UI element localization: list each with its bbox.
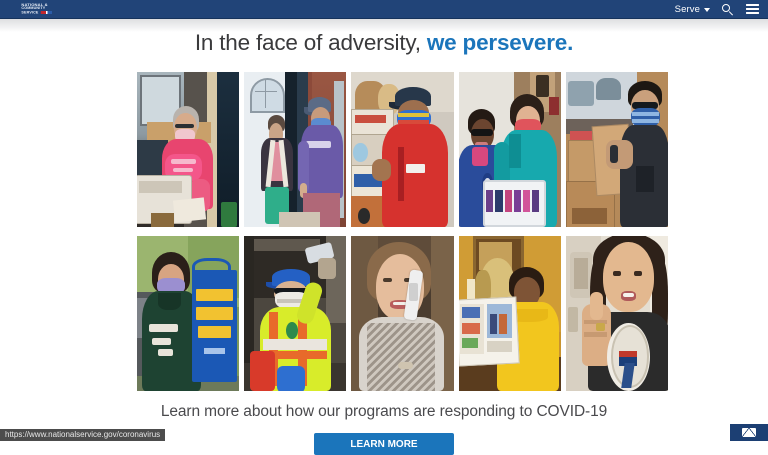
flag-icon bbox=[41, 11, 52, 14]
hamburger-menu-icon bbox=[746, 4, 759, 13]
photo-gallery bbox=[137, 72, 668, 391]
search-button[interactable] bbox=[719, 0, 735, 19]
gallery-photo[interactable] bbox=[137, 72, 239, 227]
gallery-photo[interactable] bbox=[566, 236, 668, 391]
email-subscribe-button[interactable] bbox=[730, 424, 768, 441]
gallery-photo[interactable] bbox=[244, 72, 346, 227]
envelope-icon bbox=[742, 428, 756, 437]
gallery-photo[interactable] bbox=[566, 72, 668, 227]
gallery-photo[interactable] bbox=[137, 236, 239, 391]
headline-accent: we persevere. bbox=[427, 30, 573, 55]
site-header: NATIONAL & COMMUNITY SERVICE Serve bbox=[0, 0, 768, 19]
page-title: In the face of adversity, we persevere. bbox=[0, 30, 768, 56]
chevron-down-icon bbox=[704, 8, 710, 12]
gallery-photo[interactable] bbox=[351, 236, 453, 391]
menu-button[interactable] bbox=[744, 0, 760, 19]
gallery-caption: Learn more about how our programs are re… bbox=[0, 403, 768, 421]
agency-logo[interactable]: NATIONAL & COMMUNITY SERVICE bbox=[22, 0, 82, 18]
logo-line-3: SERVICE bbox=[21, 11, 82, 15]
headline-normal: In the face of adversity, bbox=[195, 30, 421, 55]
gallery-photo[interactable] bbox=[459, 236, 561, 391]
learn-more-button[interactable]: LEARN MORE bbox=[314, 433, 454, 455]
nav-serve-label: Serve bbox=[675, 4, 700, 15]
search-icon bbox=[722, 4, 733, 15]
gallery-photo[interactable] bbox=[351, 72, 453, 227]
gallery-photo[interactable] bbox=[459, 72, 561, 227]
browser-status-bar: https://www.nationalservice.gov/coronavi… bbox=[0, 429, 165, 441]
gallery-photo[interactable] bbox=[244, 236, 346, 391]
header-right-group: Serve bbox=[675, 0, 760, 19]
nav-serve-dropdown[interactable]: Serve bbox=[675, 4, 710, 15]
logo-line-3-text: SERVICE bbox=[21, 10, 38, 14]
